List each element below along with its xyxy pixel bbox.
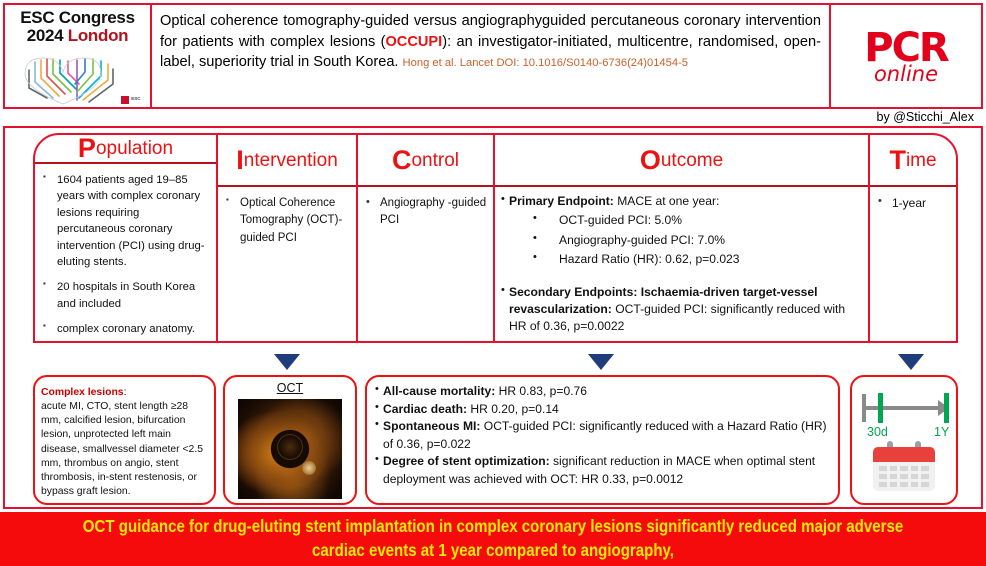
secondary-endpoint-line: Secondary Endpoints: Ischaemia-driven ta… — [501, 284, 862, 336]
timeline-bar — [862, 406, 940, 410]
intervention-body: Optical Coherence Tomography (OCT)-guide… — [218, 187, 356, 341]
picot-column-outcome: Outcome Primary Endpoint: MACE at one ye… — [495, 135, 870, 341]
outcome-value: HR 0.83, p=0.76 — [495, 384, 587, 398]
complex-lesions-title: Complex lesions — [41, 387, 124, 398]
list-item: complex coronary anatomy. — [41, 321, 210, 337]
population-body: 1604 patients aged 19–85 years with comp… — [35, 164, 216, 343]
timeline-tick-start — [878, 393, 883, 423]
outcome-line: Degree of stent optimization: significan… — [375, 453, 830, 488]
calendar-header-band — [873, 447, 935, 462]
population-header: Population — [35, 135, 216, 164]
picot-column-intervention: Intervention Optical Coherence Tomograph… — [218, 135, 358, 341]
header-bar: ESC Congress 2024 London — [3, 3, 983, 109]
author-byline: by @Sticchi_Alex — [877, 110, 974, 124]
oct-guidewire-artifact — [302, 461, 316, 475]
primary-endpoint-text: MACE at one year: — [614, 194, 720, 208]
esc-badge-text: ESC — [131, 97, 140, 102]
population-list: 1604 patients aged 19–85 years with comp… — [41, 172, 210, 337]
esc-heart-tube-map-icon: ESC — [13, 48, 143, 106]
oct-cross-section-image — [238, 399, 342, 499]
time-header-initial: T — [889, 147, 906, 174]
complex-lesions-box: Complex lesions: acute MI, CTO, stent le… — [33, 375, 216, 505]
outcome-spacer — [501, 270, 862, 284]
picot-table: Population 1604 patients aged 19–85 year… — [33, 133, 958, 343]
esc-city: London — [68, 26, 129, 45]
outcome-header: Outcome — [495, 135, 868, 187]
list-item: OCT-guided PCI: 5.0% — [501, 211, 862, 231]
picot-column-control: Control Angiography -guided PCI — [358, 135, 495, 341]
population-header-rest: opulation — [96, 139, 173, 158]
esc-congress-line2: 2024 London — [27, 27, 129, 45]
esc-badge: ESC — [121, 96, 140, 104]
pcr-logo: PCR online — [864, 28, 947, 85]
list-item: 1604 patients aged 19–85 years with comp… — [41, 172, 210, 270]
list-item: Hazard Ratio (HR): 0.62, p=0.023 — [501, 250, 862, 270]
outcome-header-initial: O — [640, 147, 661, 174]
timeline-tick-end — [944, 393, 949, 423]
oct-image-box: OCT — [223, 375, 357, 505]
infographic-page: ESC Congress 2024 London — [0, 0, 986, 566]
conclusion-text: OCT guidance for drug-eluting stent impl… — [81, 515, 905, 562]
outcome-line: All-cause mortality: HR 0.83, p=0.76 — [375, 383, 830, 401]
calendar-icon — [873, 441, 935, 491]
timeline-arrow-icon: 30d 1Y — [858, 385, 954, 437]
calendar-day-grid — [879, 466, 929, 487]
study-title: Optical coherence tomography-guided vers… — [160, 11, 821, 73]
intervention-header-rest: ntervention — [244, 151, 338, 170]
outcome-body: Primary Endpoint: MACE at one year: OCT-… — [495, 187, 868, 341]
timeline-box: 30d 1Y — [850, 375, 958, 505]
outcome-value: HR 0.20, p=0.14 — [467, 402, 559, 416]
outcome-label: Spontaneous MI: — [383, 419, 480, 433]
oct-label: OCT — [231, 381, 349, 396]
time-list: 1-year — [876, 195, 950, 212]
esc-congress-logo-cell: ESC Congress 2024 London — [5, 5, 152, 107]
control-header-initial: C — [392, 147, 412, 174]
list-item: 20 hospitals in South Korea and included — [41, 279, 210, 312]
control-header-rest: ontrol — [411, 151, 459, 170]
outcome-header-rest: utcome — [661, 151, 723, 170]
additional-outcomes-box: All-cause mortality: HR 0.83, p=0.76 Car… — [365, 375, 840, 505]
pcr-online-logo-cell[interactable]: PCR online — [831, 5, 981, 107]
control-header: Control — [358, 135, 493, 187]
picot-column-population: Population 1604 patients aged 19–85 year… — [35, 135, 218, 341]
time-header: Time — [870, 135, 956, 187]
esc-badge-square — [121, 96, 129, 104]
esc-congress-line1: ESC Congress — [20, 9, 135, 27]
timeline-end-label: 1Y — [934, 425, 949, 439]
study-citation: Hong et al. Lancet DOI: 10.1016/S0140-67… — [403, 57, 688, 69]
arrow-down-icon-outcomes — [588, 354, 614, 370]
list-item: 1-year — [876, 195, 950, 212]
population-header-initial: P — [78, 135, 96, 162]
study-title-cell: Optical coherence tomography-guided vers… — [152, 5, 831, 107]
outcome-line: Cardiac death: HR 0.20, p=0.14 — [375, 401, 830, 419]
esc-year: 2024 — [27, 26, 64, 45]
time-header-rest: ime — [906, 151, 937, 170]
time-body: 1-year — [870, 187, 956, 341]
pcr-logo-sub: online — [864, 64, 947, 85]
list-item: Angiography -guided PCI — [364, 195, 487, 230]
outcome-label: All-cause mortality: — [383, 384, 495, 398]
control-list: Angiography -guided PCI — [364, 195, 487, 230]
main-content-frame: Population 1604 patients aged 19–85 year… — [3, 126, 983, 509]
picot-column-time: Time 1-year — [870, 135, 956, 341]
control-body: Angiography -guided PCI — [358, 187, 493, 341]
list-item: Angiography-guided PCI: 7.0% — [501, 231, 862, 251]
conclusion-banner: OCT guidance for drug-eluting stent impl… — [0, 512, 986, 566]
complex-lesions-text: acute MI, CTO, stent length ≥28 mm, calc… — [41, 400, 208, 499]
title-acronym: OCCUPI — [385, 34, 442, 50]
primary-endpoint-line: Primary Endpoint: MACE at one year: — [501, 193, 862, 210]
timeline-start-label: 30d — [867, 425, 888, 439]
arrow-down-icon-time — [898, 354, 924, 370]
intervention-header: Intervention — [218, 135, 356, 187]
intervention-list: Optical Coherence Tomography (OCT)-guide… — [224, 195, 350, 247]
primary-endpoint-list: OCT-guided PCI: 5.0% Angiography-guided … — [501, 211, 862, 270]
complex-lesions-colon: : — [124, 387, 127, 398]
outcome-label: Cardiac death: — [383, 402, 467, 416]
outcome-line: Spontaneous MI: OCT-guided PCI: signific… — [375, 418, 830, 453]
intervention-header-initial: I — [236, 147, 244, 174]
arrow-down-icon-oct — [274, 354, 300, 370]
oct-lumen-core — [277, 434, 303, 460]
outcome-label: Degree of stent optimization: — [383, 454, 550, 468]
list-item: Optical Coherence Tomography (OCT)-guide… — [224, 195, 350, 247]
primary-endpoint-label: Primary Endpoint: — [509, 194, 614, 208]
